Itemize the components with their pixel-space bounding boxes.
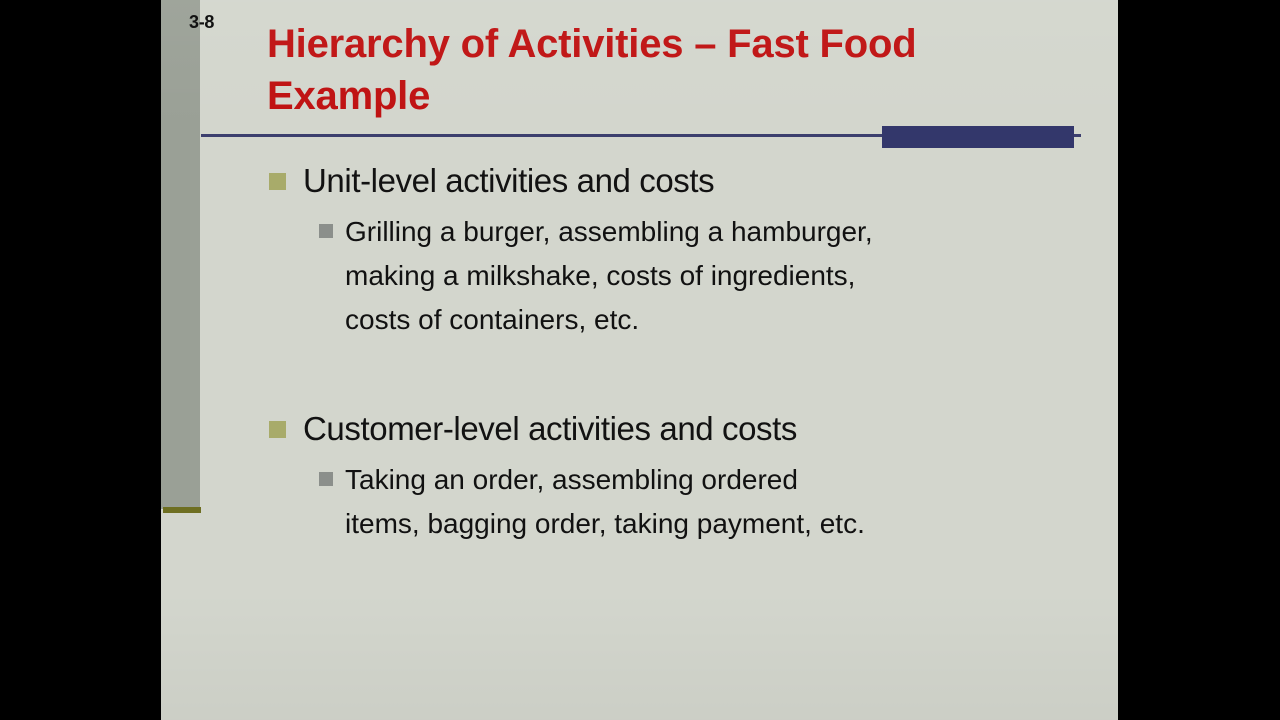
olive-square-bullet-icon <box>269 173 286 190</box>
list-item: Customer-level activities and costs <box>161 406 1118 452</box>
detail-line: Grilling a burger, assembling a hamburge… <box>345 210 1075 254</box>
screen-letterbox: 3-8 Hierarchy of Activities – Fast Food … <box>0 0 1280 720</box>
section-detail: Taking an order, assembling ordered item… <box>345 458 1075 546</box>
list-item: Grilling a burger, assembling a hamburge… <box>161 210 1118 342</box>
gray-square-bullet-icon <box>319 472 333 486</box>
section-heading: Unit-level activities and costs <box>303 162 714 199</box>
slide-body: Unit-level activities and costs Grilling… <box>161 158 1118 546</box>
detail-line: making a milkshake, costs of ingredients… <box>345 254 1075 298</box>
gray-square-bullet-icon <box>319 224 333 238</box>
slide-number: 3-8 <box>189 12 214 33</box>
presentation-slide: 3-8 Hierarchy of Activities – Fast Food … <box>161 0 1118 720</box>
detail-line: Taking an order, assembling ordered <box>345 458 1075 502</box>
list-item: Taking an order, assembling ordered item… <box>161 458 1118 546</box>
section-heading: Customer-level activities and costs <box>303 410 797 447</box>
section-detail: Grilling a burger, assembling a hamburge… <box>345 210 1075 342</box>
detail-line: items, bagging order, taking payment, et… <box>345 502 1075 546</box>
list-item: Unit-level activities and costs <box>161 158 1118 204</box>
section-spacer <box>161 342 1118 406</box>
detail-line: costs of containers, etc. <box>345 298 1075 342</box>
page-title: Hierarchy of Activities – Fast Food Exam… <box>267 18 1057 122</box>
olive-square-bullet-icon <box>269 421 286 438</box>
title-accent-tab <box>882 126 1074 148</box>
